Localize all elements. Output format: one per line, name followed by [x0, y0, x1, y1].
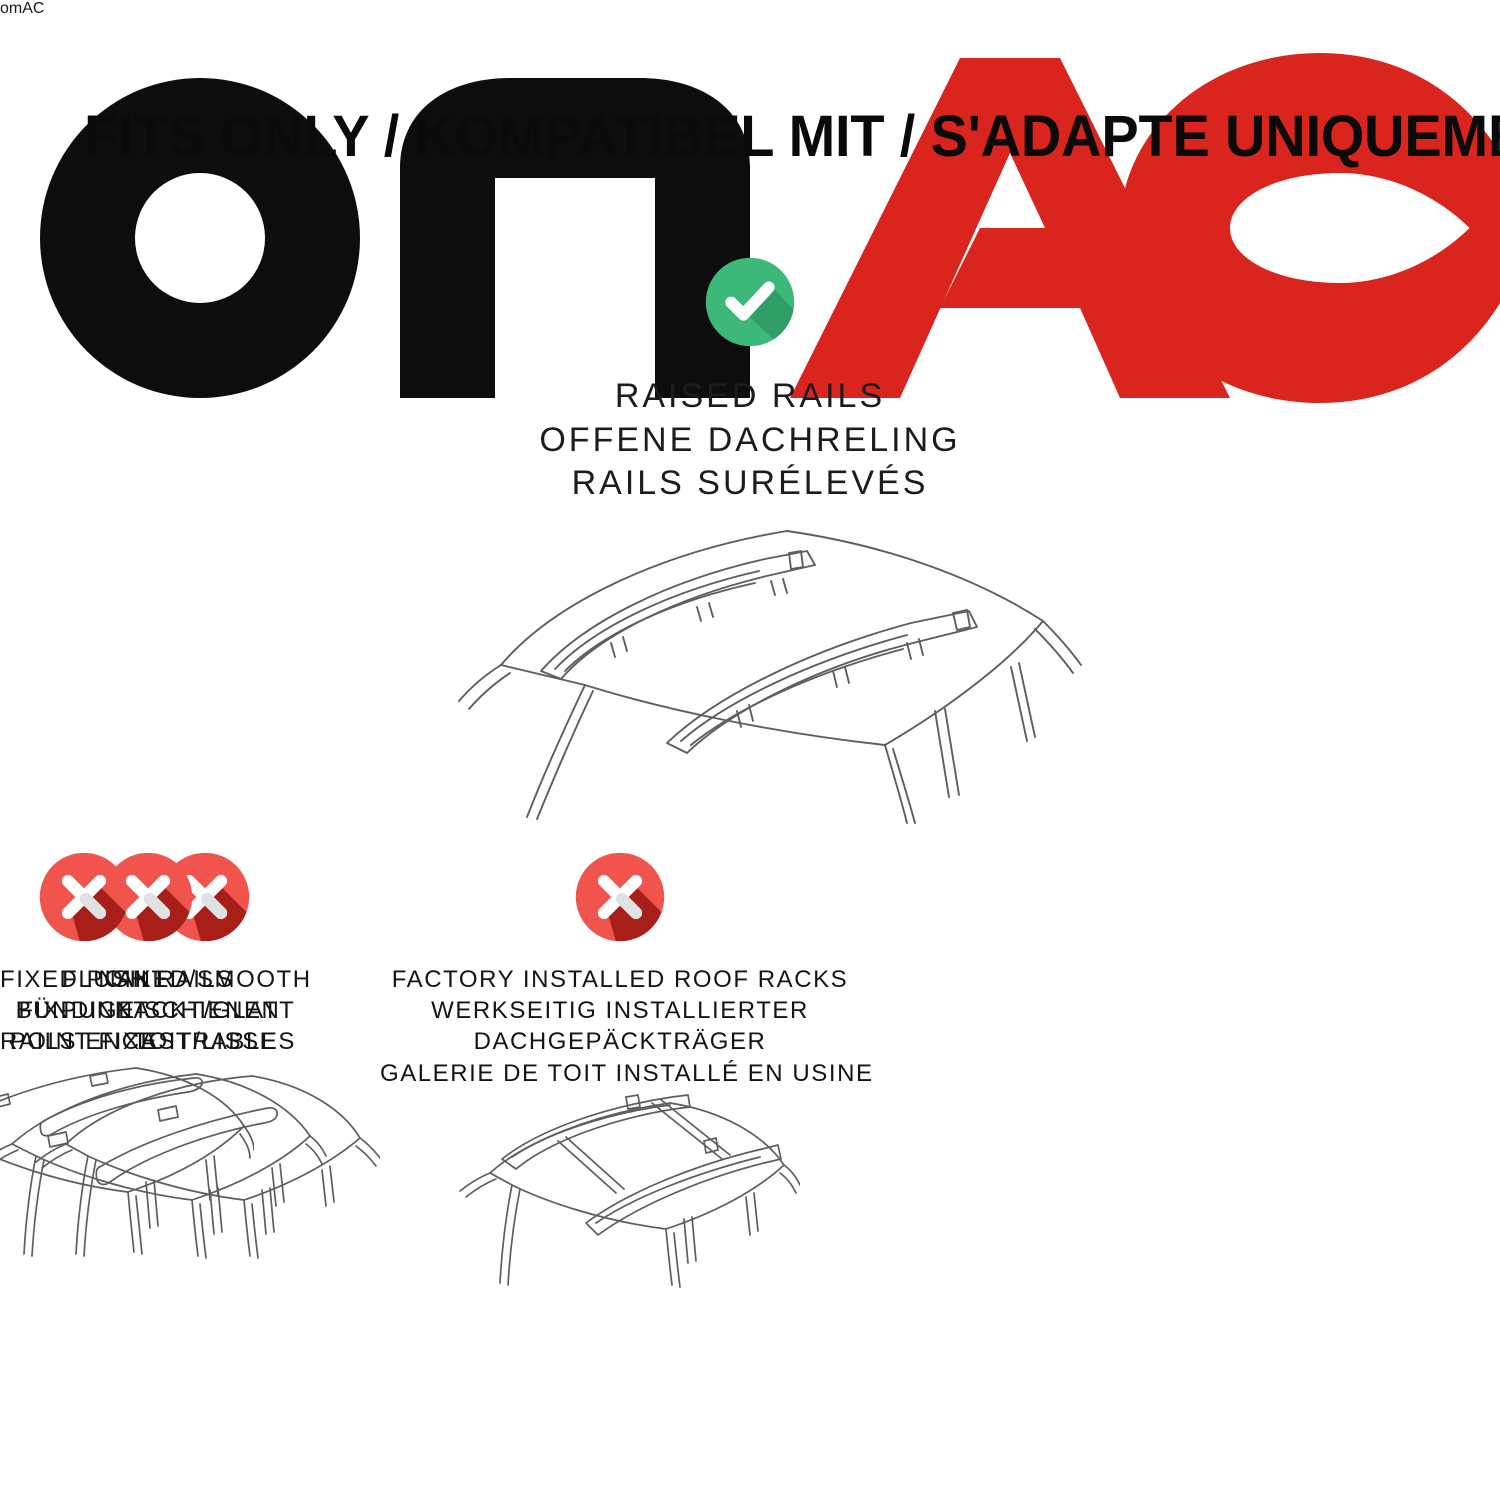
car-roof-factory-roof-rack-diagram — [440, 1089, 800, 1319]
omac-logo-text: omAC — [0, 0, 44, 17]
incompatible-section: NAKED/SMOOTH NACKT/GLATT TOIT/LISSE — [0, 850, 1500, 1290]
incompatible-item-factory-roof-racks: FACTORY INSTALLED ROOF RACKS WERKSEITIG … — [380, 850, 860, 1089]
incompatible-label-de: FIXPUNKT — [0, 995, 168, 1026]
incompatible-item-fixed-point: FIXED POINT FIXPUNKT POINT FIXE — [0, 850, 168, 1058]
incompatible-labels: FIXED POINT FIXPUNKT POINT FIXE — [0, 964, 168, 1058]
x-circle-icon — [573, 850, 667, 944]
incompatible-label-en: FIXED POINT — [0, 964, 168, 995]
incompatible-label-fr: GALERIE DE TOIT INSTALLÉ EN USINE — [380, 1058, 860, 1089]
incompatible-labels: FACTORY INSTALLED ROOF RACKS WERKSEITIG … — [380, 964, 860, 1089]
page-title: FITS ONLY / KOMPATIBEL MIT / S'ADAPTE UN… — [84, 108, 1377, 166]
incompatible-label-de-1: WERKSEITIG INSTALLIERTER — [380, 995, 860, 1026]
car-roof-fixed-point-diagram — [0, 1058, 254, 1288]
compatible-label-fr: RAILS SURÉLEVÉS — [539, 462, 960, 506]
compatible-section: RAISED RAILS OFFENE DACHRELING RAILS SUR… — [0, 255, 1500, 506]
incompatible-label-fr: POINT FIXE — [0, 1026, 168, 1057]
x-circle-icon — [37, 850, 131, 944]
compatible-label-en: RAISED RAILS — [539, 375, 960, 419]
compatible-label-de: OFFENE DACHRELING — [539, 419, 960, 463]
incompatible-label-de-2: DACHGEPÄCKTRÄGER — [380, 1026, 860, 1057]
check-circle-icon — [703, 255, 797, 349]
compatible-labels: RAISED RAILS OFFENE DACHRELING RAILS SUR… — [539, 375, 960, 506]
incompatible-label-en: FACTORY INSTALLED ROOF RACKS — [380, 964, 860, 995]
car-roof-raised-rails-diagram — [415, 505, 1085, 825]
